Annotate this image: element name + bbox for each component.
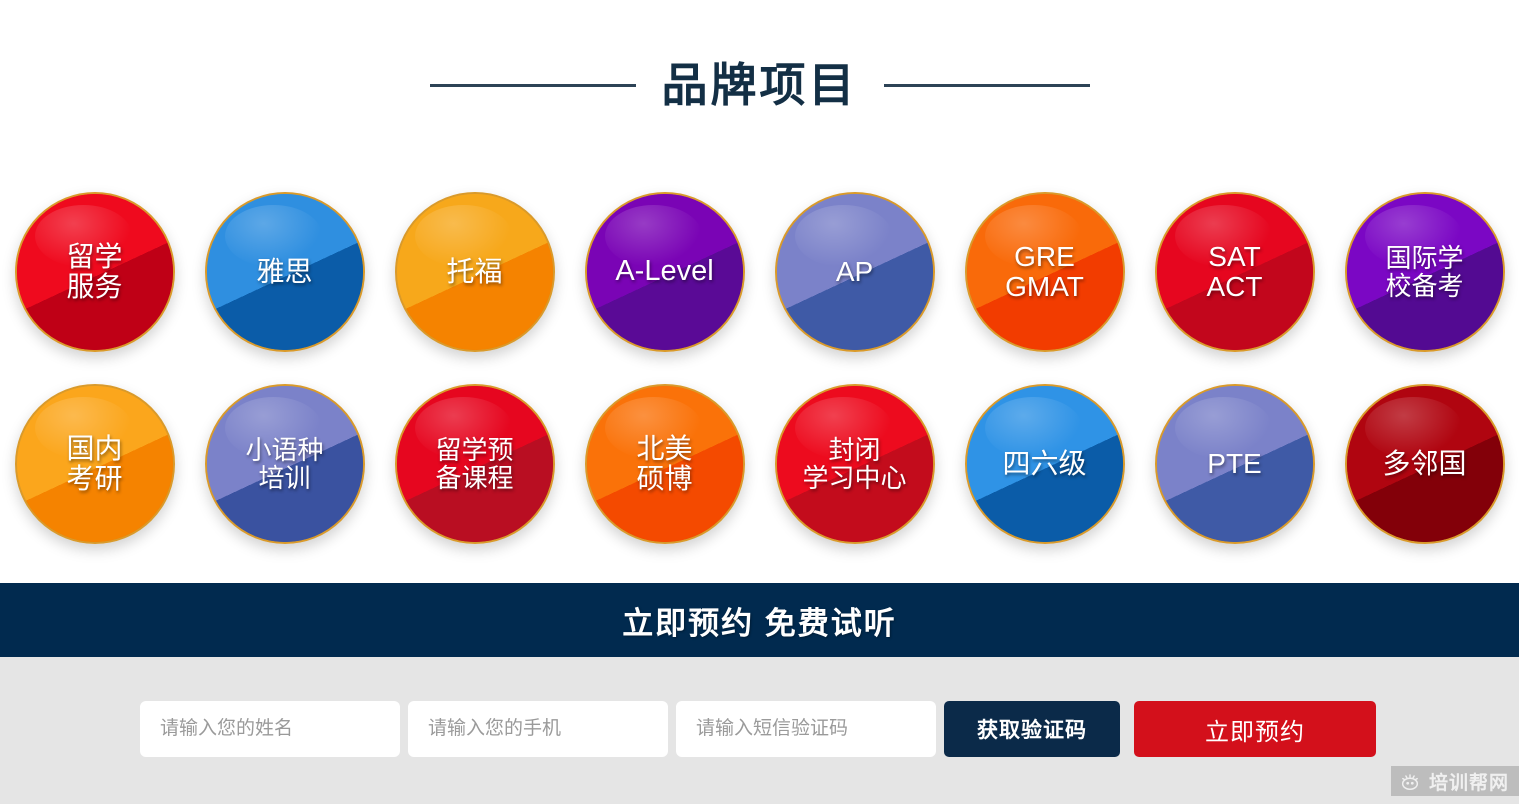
program-label: 多邻国 — [1380, 449, 1468, 479]
program-bubble[interactable]: GRE GMAT — [965, 192, 1125, 352]
program-cell: SAT ACT — [1140, 176, 1330, 368]
banner-title: 立即预约 免费试听 — [622, 598, 897, 643]
site-watermark: 培训帮网 — [1391, 766, 1519, 796]
program-label: 国内 考研 — [64, 434, 124, 494]
program-label: 北美 硕博 — [634, 434, 694, 494]
program-cell: AP — [760, 176, 950, 368]
program-label: 封闭 学习中心 — [800, 436, 908, 492]
phone-input[interactable] — [408, 701, 668, 757]
program-label: SAT ACT — [1205, 242, 1265, 302]
program-bubble[interactable]: A-Level — [585, 192, 745, 352]
program-cell: 留学 服务 — [0, 176, 190, 368]
program-label: 国际学 校备考 — [1383, 244, 1465, 300]
program-cell: 北美 硕博 — [570, 368, 760, 560]
program-bubble[interactable]: 多邻国 — [1345, 384, 1505, 544]
program-bubble[interactable]: PTE — [1155, 384, 1315, 544]
program-label: GRE GMAT — [1003, 242, 1086, 302]
sun-eye-icon — [1399, 770, 1421, 792]
program-cell: 小语种 培训 — [190, 368, 380, 560]
program-cell: 四六级 — [950, 368, 1140, 560]
program-cell: 托福 — [380, 176, 570, 368]
sms-code-input[interactable] — [676, 701, 936, 757]
get-code-button[interactable]: 获取验证码 — [944, 701, 1120, 757]
program-label: 留学预 备课程 — [433, 436, 515, 492]
program-bubble[interactable]: 托福 — [395, 192, 555, 352]
program-label: 留学 服务 — [64, 242, 124, 302]
program-cell: PTE — [1140, 368, 1330, 560]
program-cell: A-Level — [570, 176, 760, 368]
program-bubble[interactable]: 国内 考研 — [15, 384, 175, 544]
program-cell: 雅思 — [190, 176, 380, 368]
brand-programs-page: 品牌项目 留学 服务雅思托福A-LevelAPGRE GMATSAT ACT国际… — [0, 0, 1519, 804]
program-label: AP — [834, 257, 875, 287]
program-bubble[interactable]: 封闭 学习中心 — [775, 384, 935, 544]
program-cell: 留学预 备课程 — [380, 368, 570, 560]
appointment-banner: 立即预约 免费试听 — [0, 583, 1519, 657]
program-bubble[interactable]: 留学预 备课程 — [395, 384, 555, 544]
program-cell: 国际学 校备考 — [1330, 176, 1519, 368]
name-input[interactable] — [140, 701, 400, 757]
program-bubble[interactable]: 四六级 — [965, 384, 1125, 544]
appointment-form: 获取验证码 立即预约 — [140, 701, 1376, 757]
program-label: 小语种 培训 — [243, 436, 325, 492]
program-label: 托福 — [444, 257, 504, 287]
program-cell: 封闭 学习中心 — [760, 368, 950, 560]
program-label: 四六级 — [1000, 449, 1088, 479]
program-bubble[interactable]: AP — [775, 192, 935, 352]
title-rule-right — [884, 84, 1090, 87]
watermark-label: 培训帮网 — [1429, 768, 1509, 795]
program-bubble[interactable]: SAT ACT — [1155, 192, 1315, 352]
program-cell: 多邻国 — [1330, 368, 1519, 560]
program-label: 雅思 — [254, 257, 314, 287]
program-bubble[interactable]: 留学 服务 — [15, 192, 175, 352]
program-label: A-Level — [613, 256, 715, 287]
program-label: PTE — [1205, 449, 1263, 479]
appointment-form-strip: 获取验证码 立即预约 — [0, 657, 1519, 804]
program-bubble[interactable]: 北美 硕博 — [585, 384, 745, 544]
program-bubble[interactable]: 雅思 — [205, 192, 365, 352]
title-rule-left — [430, 84, 636, 87]
program-bubble[interactable]: 国际学 校备考 — [1345, 192, 1505, 352]
program-grid: 留学 服务雅思托福A-LevelAPGRE GMATSAT ACT国际学 校备考… — [0, 176, 1519, 560]
program-cell: GRE GMAT — [950, 176, 1140, 368]
submit-appointment-button[interactable]: 立即预约 — [1134, 701, 1376, 757]
program-bubble[interactable]: 小语种 培训 — [205, 384, 365, 544]
section-title-row: 品牌项目 — [0, 62, 1519, 108]
program-cell: 国内 考研 — [0, 368, 190, 560]
page-title: 品牌项目 — [662, 62, 858, 108]
